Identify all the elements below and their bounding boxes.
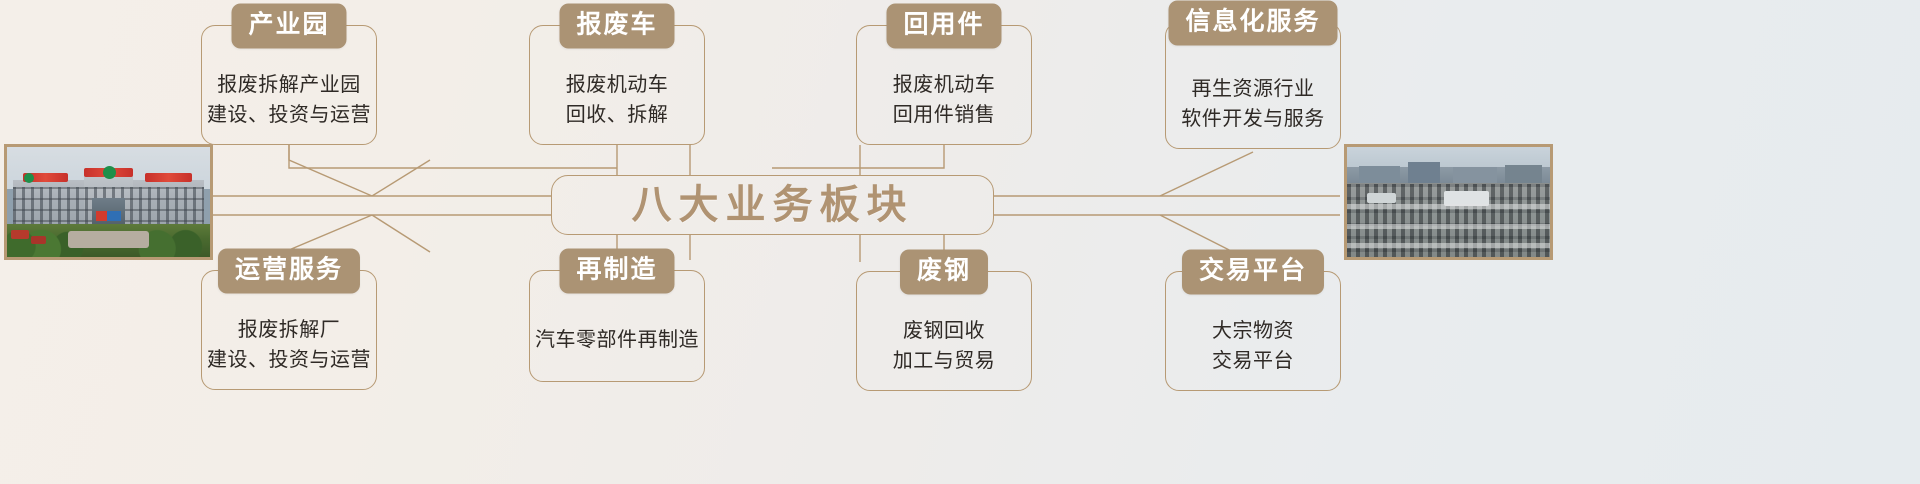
card-body-industrial-park: 报废拆解产业园 建设、投资与运营 [202,70,376,130]
card-body-remanufacturing: 汽车零部件再制造 [530,325,704,355]
center-node-title: 八大业务板块 [632,185,914,225]
card-title-industrial-park: 产业园 [231,4,346,49]
card-body-scrap-steel: 废钢回收 加工与贸易 [857,316,1031,376]
card-reusable-parts[interactable]: 回用件 报废机动车 回用件销售 [856,25,1032,145]
card-title-information-service: 信息化服务 [1168,1,1337,46]
card-title-reusable-parts: 回用件 [886,4,1001,49]
card-industrial-park[interactable]: 产业园 报废拆解产业园 建设、投资与运营 [201,25,377,145]
diagram-canvas: 八大业务板块 产业园 报废拆解产业园 建设、投资与运营 报废车 报废机动车 回收… [0,0,1920,484]
card-title-trading-platform: 交易平台 [1182,250,1324,295]
card-body-scrap-vehicle: 报废机动车 回收、拆解 [530,70,704,130]
card-scrap-steel[interactable]: 废钢 废钢回收 加工与贸易 [856,271,1032,391]
card-title-scrap-steel: 废钢 [900,250,988,295]
photo-headquarters-building [4,144,213,260]
card-body-reusable-parts: 报废机动车 回用件销售 [857,70,1031,130]
card-title-scrap-vehicle: 报废车 [559,4,674,49]
card-scrap-vehicle[interactable]: 报废车 报废机动车 回收、拆解 [529,25,705,145]
photo-vehicle-yard-aerial [1344,144,1553,260]
card-title-operation-service: 运营服务 [218,249,360,294]
card-body-trading-platform: 大宗物资 交易平台 [1166,316,1340,376]
center-node[interactable]: 八大业务板块 [551,175,994,235]
card-body-information-service: 再生资源行业 软件开发与服务 [1166,74,1340,134]
card-remanufacturing[interactable]: 再制造 汽车零部件再制造 [529,270,705,382]
card-operation-service[interactable]: 运营服务 报废拆解厂 建设、投资与运营 [201,270,377,390]
card-body-operation-service: 报废拆解厂 建设、投资与运营 [202,315,376,375]
card-title-remanufacturing: 再制造 [559,249,674,294]
card-trading-platform[interactable]: 交易平台 大宗物资 交易平台 [1165,271,1341,391]
card-information-service[interactable]: 信息化服务 再生资源行业 软件开发与服务 [1165,22,1341,149]
